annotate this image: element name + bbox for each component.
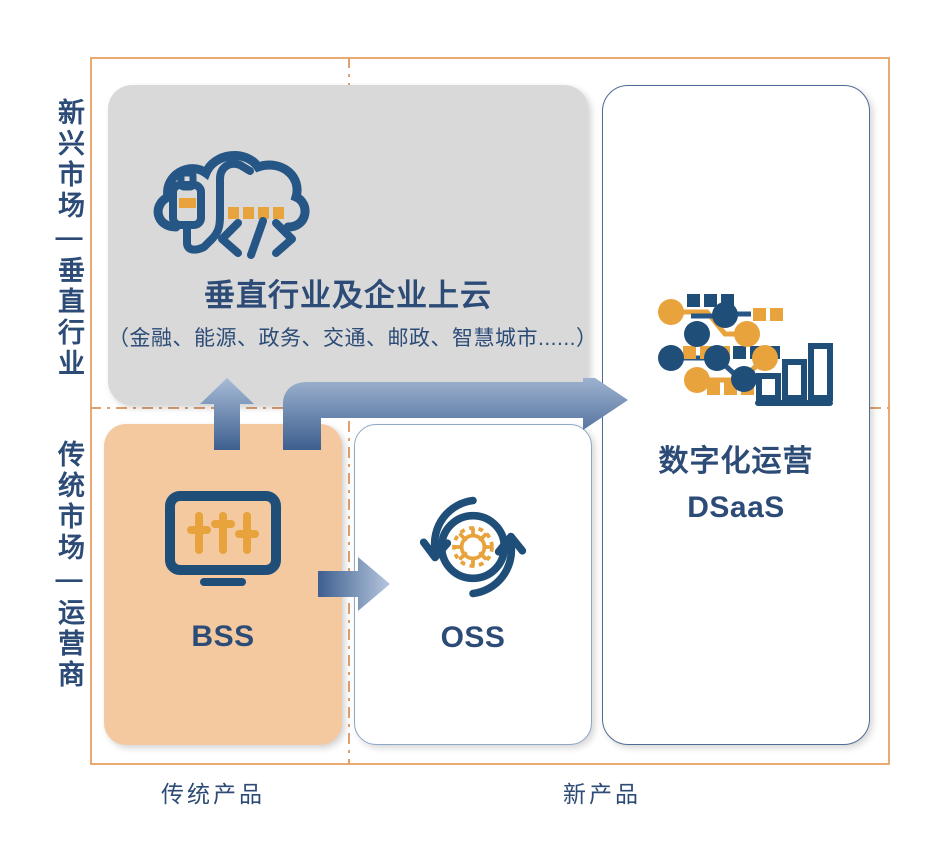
bss-to-dsaas-arrow [283, 378, 628, 455]
x-axis-label-traditional-product: 传统产品 [161, 775, 265, 809]
refresh-gear-icon [414, 491, 532, 603]
cloud-code-icon [146, 135, 316, 260]
monitor-sliders-icon [164, 490, 282, 602]
oss-label: OSS [355, 621, 591, 655]
bss-to-vertical-arrow [196, 378, 258, 455]
x-axis-label-new-product: 新产品 [563, 775, 641, 809]
bss-to-oss-arrow [318, 555, 390, 618]
card-vertical-industry[interactable]: 垂直行业及企业上云 （金融、能源、政务、交通、邮政、智慧城市......） [108, 85, 588, 405]
y-axis-label-traditional-market: 传统市场—运营商 [38, 440, 82, 691]
bss-label: BSS [104, 620, 342, 654]
vertical-industry-subtitle: （金融、能源、政务、交通、邮政、智慧城市......） [108, 322, 588, 352]
vertical-industry-title: 垂直行业及企业上云 [108, 270, 588, 315]
digital-network-chart-icon [641, 276, 837, 408]
dsaas-title: 数字化运营 [603, 436, 869, 480]
card-dsaas[interactable]: 数字化运营 DSaaS [602, 85, 870, 745]
dsaas-subtitle: DSaaS [603, 491, 869, 525]
y-axis-label-emerging-market: 新兴市场—垂直行业 [38, 98, 82, 380]
card-bss[interactable]: BSS [104, 424, 342, 745]
